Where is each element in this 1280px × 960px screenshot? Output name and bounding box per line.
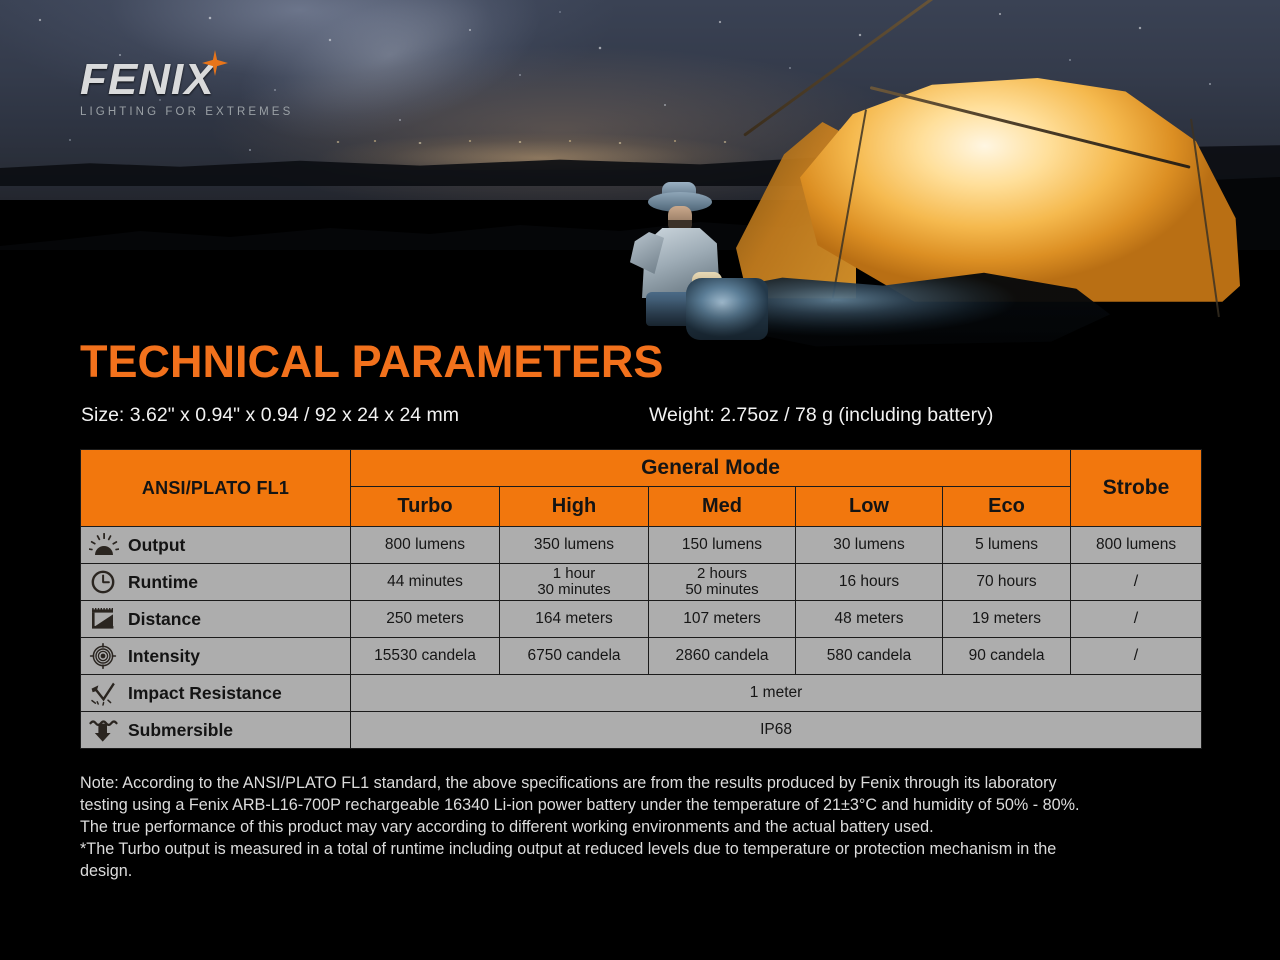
table-row: Output 800 lumens 350 lumens 150 lumens … bbox=[81, 527, 1202, 564]
camper-figure bbox=[628, 180, 758, 310]
fenix-logo: FENIX LIGHTING FOR EXTREMES bbox=[80, 58, 300, 128]
row-label-intensity: Intensity bbox=[81, 638, 351, 675]
cell-intensity-turbo: 15530 candela bbox=[351, 638, 500, 675]
cell-runtime-eco: 70 hours bbox=[943, 564, 1071, 601]
table-row: Impact Resistance 1 meter bbox=[81, 675, 1202, 712]
row-label-submersible: Submersible bbox=[81, 712, 351, 749]
submersible-icon bbox=[89, 717, 119, 743]
technical-parameters-page: FENIX LIGHTING FOR EXTREMES TECHNICAL PA… bbox=[0, 0, 1280, 960]
table-row: Distance 250 meters 164 meters 107 meter… bbox=[81, 601, 1202, 638]
target-intensity-icon bbox=[89, 643, 119, 669]
cell-runtime-low: 16 hours bbox=[796, 564, 943, 601]
header-mode-turbo: Turbo bbox=[351, 487, 500, 527]
distant-city-lights bbox=[330, 138, 750, 146]
cell-distance-turbo: 250 meters bbox=[351, 601, 500, 638]
note-line-1: Note: According to the ANSI/PLATO FL1 st… bbox=[80, 772, 1210, 794]
cell-runtime-med: 2 hours50 minutes bbox=[649, 564, 796, 601]
row-label-text: Submersible bbox=[128, 720, 233, 741]
cell-distance-eco: 19 meters bbox=[943, 601, 1071, 638]
note-line-2: testing using a Fenix ARB-L16-700P recha… bbox=[80, 794, 1210, 816]
row-label-distance: Distance bbox=[81, 601, 351, 638]
dimension-row: Size: 3.62" x 0.94" x 0.94 / 92 x 24 x 2… bbox=[81, 404, 1201, 432]
cell-intensity-eco: 90 candela bbox=[943, 638, 1071, 675]
row-label-text: Runtime bbox=[128, 572, 198, 593]
row-label-runtime: Runtime bbox=[81, 564, 351, 601]
row-label-text: Output bbox=[128, 535, 185, 556]
note-line-5: design. bbox=[80, 860, 1210, 882]
spec-table-wrapper: ANSI/PLATO FL1 General Mode Strobe Turbo… bbox=[80, 449, 1201, 749]
footnote: Note: According to the ANSI/PLATO FL1 st… bbox=[80, 772, 1210, 882]
row-label-text: Intensity bbox=[128, 646, 200, 667]
table-row: Submersible IP68 bbox=[81, 712, 1202, 749]
cell-impact-resistance-value: 1 meter bbox=[351, 675, 1202, 712]
header-strobe: Strobe bbox=[1071, 450, 1202, 527]
impact-resistance-icon bbox=[89, 680, 119, 706]
cell-distance-high: 164 meters bbox=[500, 601, 649, 638]
cell-distance-strobe: / bbox=[1071, 601, 1202, 638]
cell-runtime-turbo: 44 minutes bbox=[351, 564, 500, 601]
cell-output-low: 30 lumens bbox=[796, 527, 943, 564]
cell-intensity-high: 6750 candela bbox=[500, 638, 649, 675]
cell-distance-low: 48 meters bbox=[796, 601, 943, 638]
header-mode-low: Low bbox=[796, 487, 943, 527]
size-text: Size: 3.62" x 0.94" x 0.94 / 92 x 24 x 2… bbox=[81, 404, 459, 427]
row-label-text: Impact Resistance bbox=[128, 683, 282, 704]
cell-output-turbo: 800 lumens bbox=[351, 527, 500, 564]
logo-tagline: LIGHTING FOR EXTREMES bbox=[80, 106, 300, 118]
header-ansi-plato: ANSI/PLATO FL1 bbox=[81, 450, 351, 527]
sun-rays-icon bbox=[89, 532, 119, 558]
cell-output-med: 150 lumens bbox=[649, 527, 796, 564]
note-line-3: The true performance of this product may… bbox=[80, 816, 1210, 838]
table-header-row-1: ANSI/PLATO FL1 General Mode Strobe bbox=[81, 450, 1202, 487]
beam-distance-icon bbox=[89, 606, 119, 632]
header-mode-med: Med bbox=[649, 487, 796, 527]
cell-submersible-value: IP68 bbox=[351, 712, 1202, 749]
header-mode-high: High bbox=[500, 487, 649, 527]
header-general-mode: General Mode bbox=[351, 450, 1071, 487]
header-mode-eco: Eco bbox=[943, 487, 1071, 527]
row-label-text: Distance bbox=[128, 609, 201, 630]
cell-distance-med: 107 meters bbox=[649, 601, 796, 638]
row-label-output: Output bbox=[81, 527, 351, 564]
weight-text: Weight: 2.75oz / 78 g (including battery… bbox=[649, 404, 993, 427]
cell-runtime-high: 1 hour30 minutes bbox=[500, 564, 649, 601]
row-label-impact-resistance: Impact Resistance bbox=[81, 675, 351, 712]
spec-table: ANSI/PLATO FL1 General Mode Strobe Turbo… bbox=[80, 449, 1202, 749]
table-row: Intensity 15530 candela 6750 candela 286… bbox=[81, 638, 1202, 675]
clock-icon bbox=[89, 569, 119, 595]
cell-intensity-low: 580 candela bbox=[796, 638, 943, 675]
cell-output-eco: 5 lumens bbox=[943, 527, 1071, 564]
cell-output-strobe: 800 lumens bbox=[1071, 527, 1202, 564]
note-line-4: *The Turbo output is measured in a total… bbox=[80, 838, 1210, 860]
cell-intensity-strobe: / bbox=[1071, 638, 1202, 675]
cell-intensity-med: 2860 candela bbox=[649, 638, 796, 675]
logo-wordmark: FENIX bbox=[80, 58, 300, 102]
cell-output-high: 350 lumens bbox=[500, 527, 649, 564]
table-row: Runtime 44 minutes 1 hour30 minutes 2 ho… bbox=[81, 564, 1202, 601]
page-title: TECHNICAL PARAMETERS bbox=[80, 336, 663, 388]
cell-runtime-strobe: / bbox=[1071, 564, 1202, 601]
